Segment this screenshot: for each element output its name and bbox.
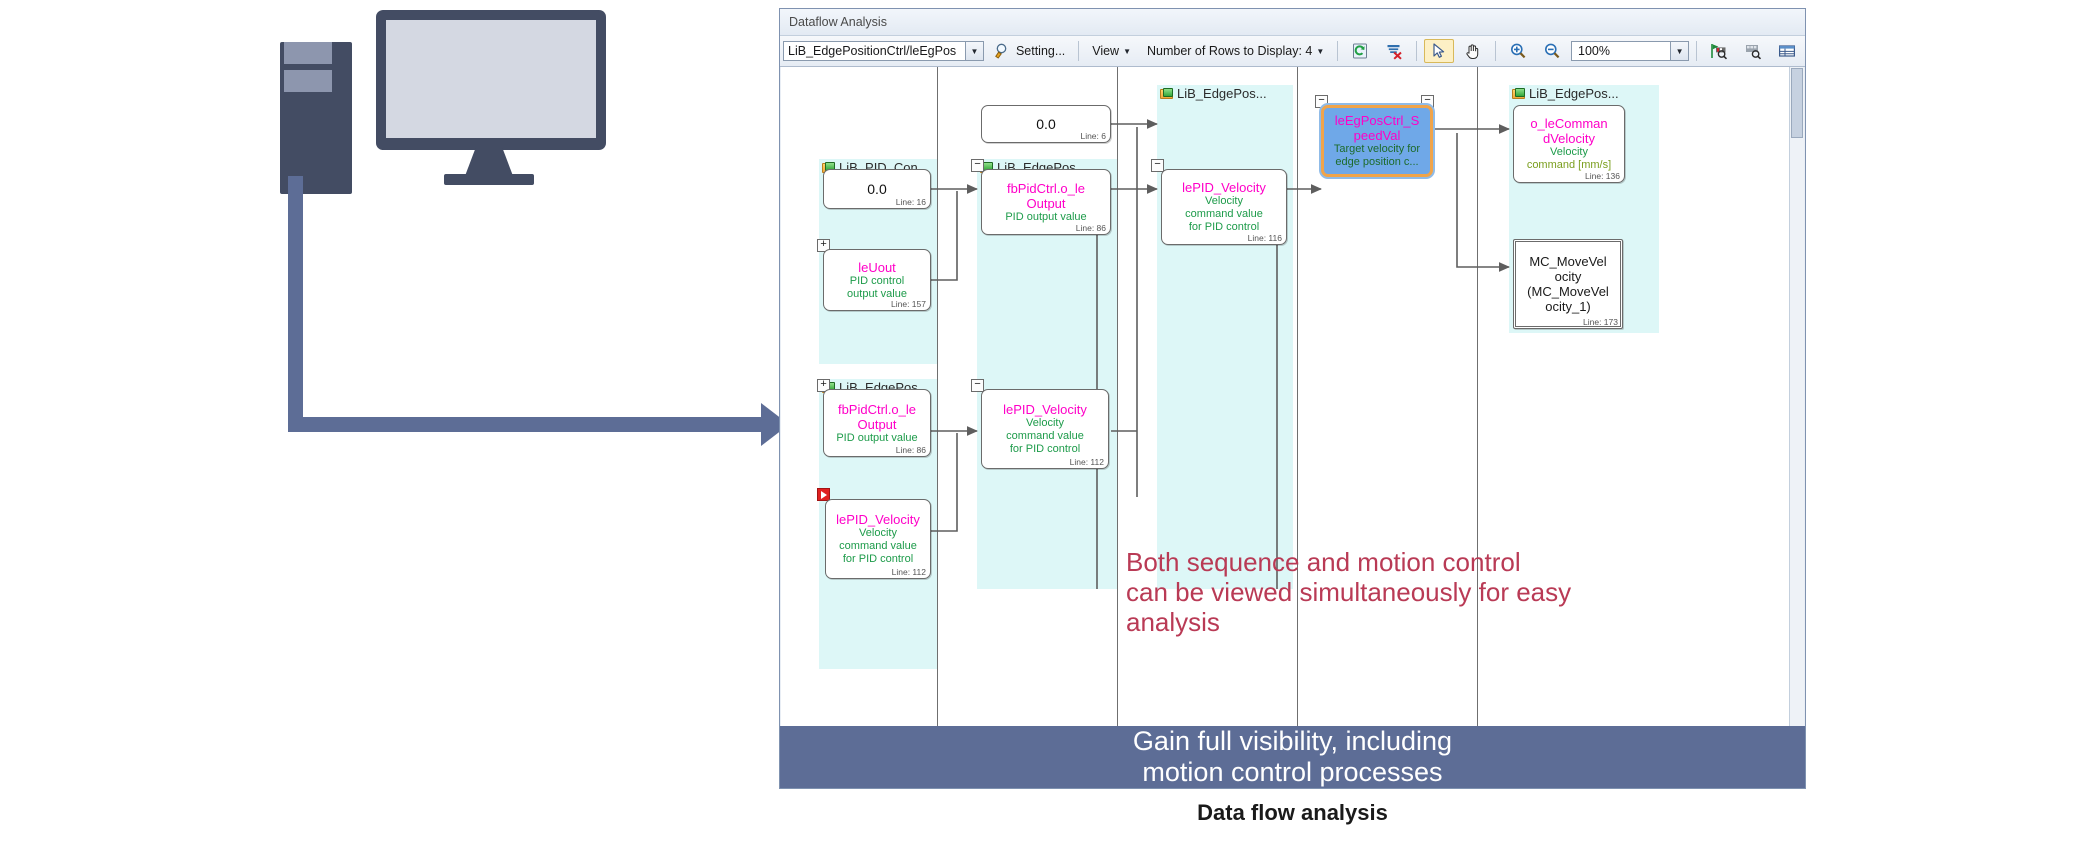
- node-description-line: PID output value: [836, 432, 917, 445]
- node-variable-name: fbPidCtrl.o_le: [1007, 181, 1085, 196]
- group-label-lib-edgepos-col4: LiB_EdgePos...: [1160, 86, 1267, 101]
- minus-icon: −: [974, 380, 981, 391]
- toolbar-separator: [1416, 41, 1417, 61]
- node-description-line: PID output value: [1005, 211, 1086, 224]
- rows-to-display-button[interactable]: Number of Rows to Display: 4 ▼: [1141, 39, 1330, 63]
- node-line-number: Line: 112: [1070, 457, 1104, 467]
- find-block-button[interactable]: [1738, 39, 1768, 63]
- expander-minus-lepid-top[interactable]: −: [1151, 159, 1164, 172]
- node-description-line: Velocity: [1026, 417, 1064, 430]
- group-label-text: LiB_EdgePos...: [1529, 86, 1619, 101]
- node-leuout[interactable]: leUout PID control output value Line: 15…: [823, 249, 931, 311]
- node-description-line: command value: [1006, 430, 1084, 443]
- node-variable-name: leUout: [858, 260, 896, 275]
- node-value: 0.0: [1036, 116, 1055, 132]
- chevron-down-icon: ▼: [1123, 47, 1131, 56]
- toolbar: LiB_EdgePositionCtrl/leEgPos ▼ Setting..…: [780, 36, 1805, 67]
- node-value: 0.0: [867, 181, 886, 197]
- annotation-line-2: can be viewed simultaneously for easy: [1126, 577, 1686, 607]
- node-description-line: Velocity: [1205, 195, 1243, 208]
- folder-icon: [1512, 88, 1526, 100]
- node-line-number: Line: 116: [1248, 233, 1282, 243]
- zoom-out-icon: [1543, 42, 1561, 60]
- clear-button[interactable]: [1379, 39, 1409, 63]
- minus-icon: −: [1154, 160, 1161, 171]
- node-block-name-cont: ocity: [1555, 269, 1582, 284]
- node-line-number: Line: 173: [1583, 317, 1618, 327]
- zoom-in-icon: [1509, 42, 1527, 60]
- expander-minus-fbpidctrl-top[interactable]: −: [971, 159, 984, 172]
- scope-combobox-value: LiB_EdgePositionCtrl/leEgPos: [784, 44, 965, 58]
- chevron-down-icon: ▼: [1316, 47, 1324, 56]
- setting-button-label: Setting...: [1016, 44, 1065, 58]
- node-line-number: Line: 86: [1076, 223, 1106, 233]
- tower-drive-slot-upper: [284, 42, 332, 64]
- view-menu-label: View: [1092, 44, 1119, 58]
- node-line-number: Line: 6: [1080, 131, 1106, 141]
- find-block-icon: [1744, 42, 1762, 60]
- rows-to-display-label: Number of Rows to Display: 4: [1147, 44, 1312, 58]
- computer-tower-icon: [280, 42, 352, 194]
- show-table-button[interactable]: [1772, 39, 1802, 63]
- node-variable-name-cont: dVelocity: [1543, 131, 1595, 146]
- window-titlebar: Dataflow Analysis: [780, 9, 1805, 36]
- pan-tool-button[interactable]: [1458, 39, 1488, 63]
- zoom-level-combobox[interactable]: 100% ▼: [1571, 41, 1689, 61]
- window-title: Dataflow Analysis: [789, 15, 887, 29]
- chevron-down-icon[interactable]: ▼: [965, 42, 983, 60]
- node-variable-name: leEgPosCtrl_S: [1335, 113, 1420, 128]
- node-lepid-velocity-top[interactable]: lePID_Velocity Velocity command value fo…: [1161, 169, 1287, 245]
- chevron-down-icon[interactable]: ▼: [1670, 42, 1688, 60]
- jump-to-start-button[interactable]: [1704, 39, 1734, 63]
- node-block-instance-cont: ocity_1): [1545, 299, 1591, 314]
- pointer-tool-icon: [1430, 42, 1448, 60]
- node-variable-name-cont: peedVal: [1354, 128, 1401, 143]
- clear-icon: [1385, 42, 1403, 60]
- zoom-level-value: 100%: [1572, 44, 1670, 58]
- node-line-number: Line: 157: [891, 299, 926, 309]
- node-line-number: Line: 136: [1585, 171, 1620, 181]
- node-fbpidctrl-output-bottom[interactable]: fbPidCtrl.o_le Output PID output value L…: [823, 389, 931, 457]
- node-line-number: Line: 16: [896, 197, 926, 207]
- minus-icon: −: [974, 160, 981, 171]
- figure-caption: Data flow analysis: [779, 800, 1806, 826]
- pan-tool-icon: [1464, 42, 1482, 60]
- annotation-line-1: Both sequence and motion control: [1126, 547, 1686, 577]
- monitor-stand-neck: [465, 148, 513, 176]
- node-pid-value[interactable]: 0.0 Line: 16: [823, 169, 931, 209]
- node-description-line: command value: [1185, 208, 1263, 221]
- banner-line-2: motion control processes: [1142, 757, 1442, 788]
- flow-arrow-vertical-segment: [288, 176, 303, 432]
- lane-divider: [1117, 67, 1118, 727]
- node-description-line: edge position c...: [1335, 156, 1418, 169]
- group-lib-edgepos-col4-top: [1157, 85, 1293, 589]
- node-variable-name: o_leComman: [1530, 116, 1607, 131]
- node-block-instance: (MC_MoveVel: [1527, 284, 1609, 299]
- tower-drive-slot-lower: [284, 70, 332, 92]
- node-variable-name: lePID_Velocity: [836, 512, 920, 527]
- flow-arrow: [288, 176, 808, 446]
- expander-minus-lepid-mid[interactable]: −: [971, 379, 984, 392]
- group-label-text: LiB_EdgePos...: [1177, 86, 1267, 101]
- lane-divider: [937, 67, 938, 727]
- node-description-line: Velocity: [1550, 146, 1588, 159]
- toolbar-separator: [1078, 41, 1079, 61]
- node-lepid-velocity-mid[interactable]: lePID_Velocity Velocity command value fo…: [981, 389, 1109, 469]
- node-variable-name: lePID_Velocity: [1182, 180, 1266, 195]
- node-description-line: command value: [839, 540, 917, 553]
- show-table-icon: [1778, 42, 1796, 60]
- node-line-number: Line: 112: [892, 567, 926, 577]
- toolbar-separator: [1495, 41, 1496, 61]
- promo-banner: Gain full visibility, including motion c…: [780, 726, 1805, 788]
- zoom-in-button[interactable]: [1503, 39, 1533, 63]
- node-lepid-velocity-bottom[interactable]: lePID_Velocity Velocity command value fo…: [825, 499, 931, 579]
- scope-combobox[interactable]: LiB_EdgePositionCtrl/leEgPos ▼: [783, 41, 984, 61]
- monitor-screen: [386, 20, 596, 138]
- banner-line-1: Gain full visibility, including: [1133, 726, 1452, 757]
- zoom-out-button[interactable]: [1537, 39, 1567, 63]
- vertical-scrollbar-thumb[interactable]: [1791, 68, 1803, 138]
- node-description-line: for PID control: [1010, 443, 1080, 456]
- toolbar-separator: [1337, 41, 1338, 61]
- toolbar-separator: [1696, 41, 1697, 61]
- node-description-line: PID control: [850, 275, 904, 288]
- setting-button[interactable]: Setting...: [988, 39, 1071, 63]
- dataflow-analysis-window: Dataflow Analysis LiB_EdgePositionCtrl/l…: [779, 8, 1806, 789]
- jump-to-start-icon: [1710, 42, 1728, 60]
- annotation-text: Both sequence and motion control can be …: [1126, 547, 1686, 637]
- node-variable-name-cont: Output: [1026, 196, 1065, 211]
- node-block-name: MC_MoveVel: [1529, 254, 1606, 269]
- vertical-scrollbar[interactable]: [1789, 67, 1804, 727]
- refresh-button[interactable]: [1345, 39, 1375, 63]
- node-description-line: Target velocity for: [1334, 143, 1420, 156]
- flow-arrow-horizontal-segment: [288, 417, 768, 432]
- node-variable-name: lePID_Velocity: [1003, 402, 1087, 417]
- node-description-line: Velocity: [859, 527, 897, 540]
- refresh-icon: [1351, 42, 1369, 60]
- view-menu-button[interactable]: View ▼: [1086, 39, 1137, 63]
- group-label-lib-edgepos-col6: LiB_EdgePos...: [1512, 86, 1619, 101]
- computer-monitor-icon: [376, 10, 606, 150]
- node-mc-movevelocity[interactable]: MC_MoveVel ocity (MC_MoveVel ocity_1) Li…: [1513, 239, 1623, 329]
- computer-illustration: [272, 8, 652, 178]
- search-icon: [994, 42, 1012, 60]
- node-variable-name: fbPidCtrl.o_le: [838, 402, 916, 417]
- folder-icon: [1160, 88, 1174, 100]
- node-leegposctrl-speedval[interactable]: leEgPosCtrl_S peedVal Target velocity fo…: [1321, 105, 1433, 177]
- node-description-line: for PID control: [843, 553, 913, 566]
- node-variable-name-cont: Output: [857, 417, 896, 432]
- node-fbpidctrl-output-top[interactable]: fbPidCtrl.o_le Output PID output value L…: [981, 169, 1111, 235]
- node-line-number: Line: 86: [896, 445, 926, 455]
- node-edgepos-value[interactable]: 0.0 Line: 6: [981, 105, 1111, 143]
- pointer-tool-button[interactable]: [1424, 39, 1454, 63]
- dataflow-canvas[interactable]: LiB_PID_Con... LiB_EdgePos... LiB_EdgePo…: [781, 67, 1804, 727]
- node-o-lecommandvelocity[interactable]: o_leComman dVelocity Velocity command [m…: [1513, 105, 1625, 183]
- annotation-line-3: analysis: [1126, 607, 1686, 637]
